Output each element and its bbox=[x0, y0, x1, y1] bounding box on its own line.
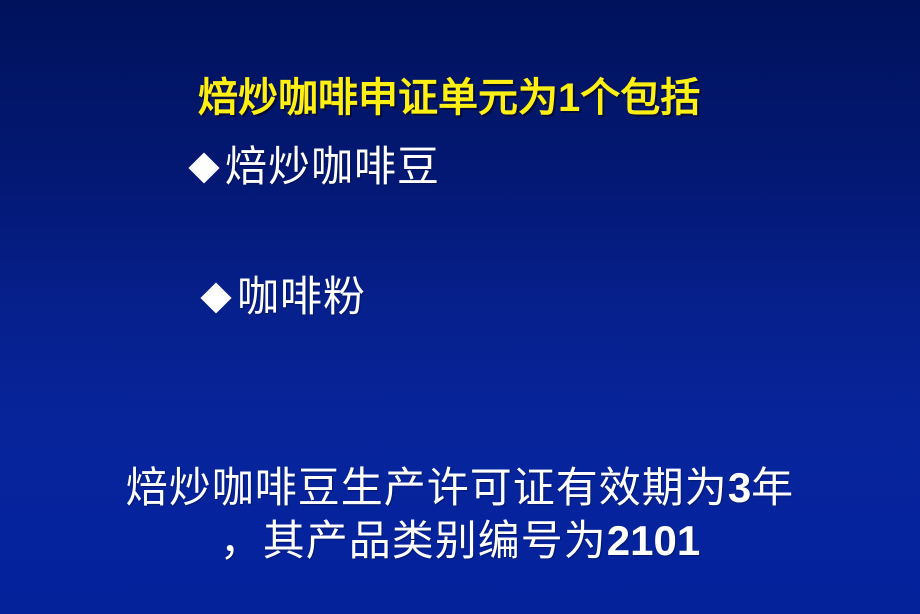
bullet-item-2: 咖啡粉 bbox=[205, 272, 366, 324]
slide-title-text-before: 焙炒咖啡申证单元为 bbox=[198, 76, 558, 120]
slide-title-text-after: 个包括 bbox=[580, 76, 700, 120]
slide-title-number: 1 bbox=[558, 76, 580, 120]
footer-line2-before: ，其产品类别编号为 bbox=[220, 519, 607, 565]
bullet-item-1: 焙炒咖啡豆 bbox=[193, 142, 440, 194]
diamond-bullet-icon bbox=[200, 282, 231, 313]
diamond-bullet-icon bbox=[188, 152, 219, 183]
bullet-item-1-label: 焙炒咖啡豆 bbox=[225, 142, 440, 194]
slide-title: 焙炒咖啡申证单元为1个包括 bbox=[198, 74, 700, 122]
footer-line2: ，其产品类别编号为2101 bbox=[40, 515, 880, 568]
footer-product-category-code: 2101 bbox=[607, 517, 700, 564]
slide-footer-text: 焙炒咖啡豆生产许可证有效期为3年，其产品类别编号为2101 bbox=[40, 462, 880, 568]
presentation-slide: 焙炒咖啡申证单元为1个包括 焙炒咖啡豆 咖啡粉 焙炒咖啡豆生产许可证有效期为3年… bbox=[0, 0, 920, 614]
footer-line1-before: 焙炒咖啡豆生产许可证有效期为 bbox=[126, 466, 728, 512]
footer-validity-years: 3 bbox=[728, 464, 751, 511]
footer-line1-after: 年 bbox=[751, 466, 794, 512]
bullet-item-2-label: 咖啡粉 bbox=[237, 272, 366, 324]
